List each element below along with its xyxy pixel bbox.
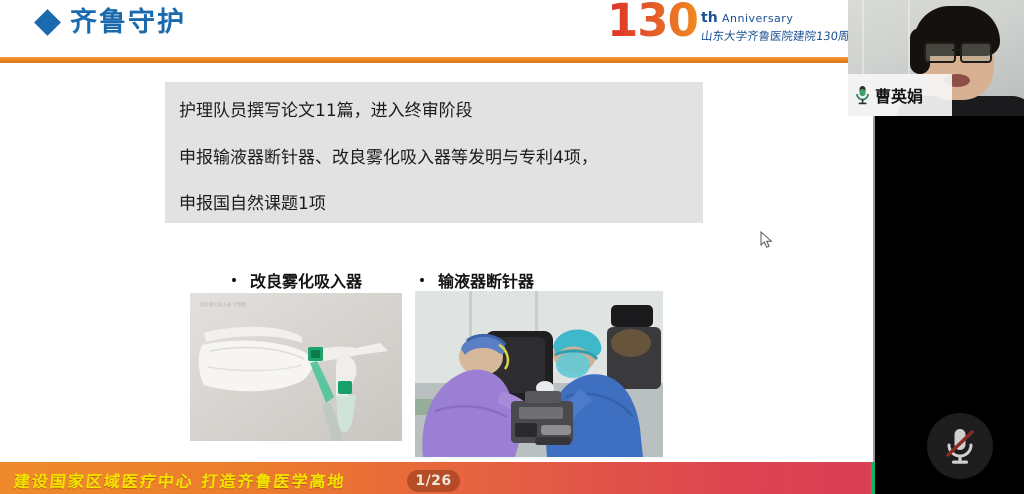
glasses-bridge xyxy=(952,49,960,51)
nebulizer-photo: 改良雾化吸入器 实物图 xyxy=(190,293,402,441)
logo-chinese-subtitle: 山东大学齐鲁医院建院130周年 xyxy=(700,28,862,44)
content-textblock: 护理队员撰写论文11篇，进入终审阶段 申报输液器断针器、改良雾化吸入器等发明与专… xyxy=(165,82,703,223)
bullet-dot-icon xyxy=(232,278,236,282)
glasses-icon xyxy=(924,42,992,59)
cursor-arrow-icon xyxy=(760,231,774,249)
mute-toggle-button[interactable] xyxy=(927,413,993,479)
caption-right-label: 输液器断针器 xyxy=(438,268,534,292)
microphone-icon xyxy=(855,85,870,105)
shared-slide[interactable]: 齐鲁守护 130 th Anniversary 山东大学齐鲁医院建院130周年 … xyxy=(0,0,875,494)
participant-name-bar: 曹英娟 xyxy=(848,74,952,116)
textblock-line: 护理队员撰写论文11篇，进入终审阶段 xyxy=(179,103,473,120)
caption-left: 改良雾化吸入器 xyxy=(232,268,362,292)
header-divider xyxy=(0,57,875,63)
slide-title-row: 齐鲁守护 xyxy=(38,9,186,36)
nebulizer-illustration: 改良雾化吸入器 实物图 xyxy=(190,293,402,441)
caption-left-label: 改良雾化吸入器 xyxy=(250,268,362,292)
page-indicator-label: 1/26 xyxy=(415,473,451,489)
diamond-icon xyxy=(34,9,61,36)
caption-right: 输液器断针器 xyxy=(420,268,534,292)
participant-video-tile[interactable]: 曹英娟 xyxy=(848,0,1024,116)
microphone-muted-icon xyxy=(940,424,980,468)
slide-header: 齐鲁守护 130 th Anniversary 山东大学齐鲁医院建院130周年 xyxy=(0,0,875,58)
logo-anniversary-word: Anniversary xyxy=(722,12,793,25)
staff-operating-device-photo xyxy=(415,291,663,457)
banner-green-edge xyxy=(871,462,875,494)
logo-suffix: th xyxy=(701,10,718,26)
page-indicator: 1/26 xyxy=(407,470,460,492)
logo-number: 130 xyxy=(607,0,698,43)
anniversary-logo: 130 th Anniversary 山东大学齐鲁医院建院130周年 xyxy=(607,2,837,54)
glasses-lens-left xyxy=(924,42,956,63)
bullet-dot-icon xyxy=(420,278,424,282)
staff-photo-illustration xyxy=(415,291,663,457)
textblock-line: 申报国自然课题1项 xyxy=(179,196,326,213)
conference-screen-share-window: 齐鲁守护 130 th Anniversary 山东大学齐鲁医院建院130周年 … xyxy=(0,0,1024,494)
footer-slogan: 建设国家区域医疗中心 打造齐鲁医学高地 xyxy=(13,468,347,492)
page-title: 齐鲁守护 xyxy=(70,9,186,36)
participant-name-label: 曹英娟 xyxy=(875,83,923,107)
photo-captions: 改良雾化吸入器 输液器断针器 xyxy=(0,268,875,292)
svg-text:改良雾化吸入器 实物图: 改良雾化吸入器 实物图 xyxy=(200,301,247,308)
textblock-line: 申报输液器断针器、改良雾化吸入器等发明与专利4项， xyxy=(179,150,598,167)
glasses-lens-right xyxy=(960,42,992,63)
